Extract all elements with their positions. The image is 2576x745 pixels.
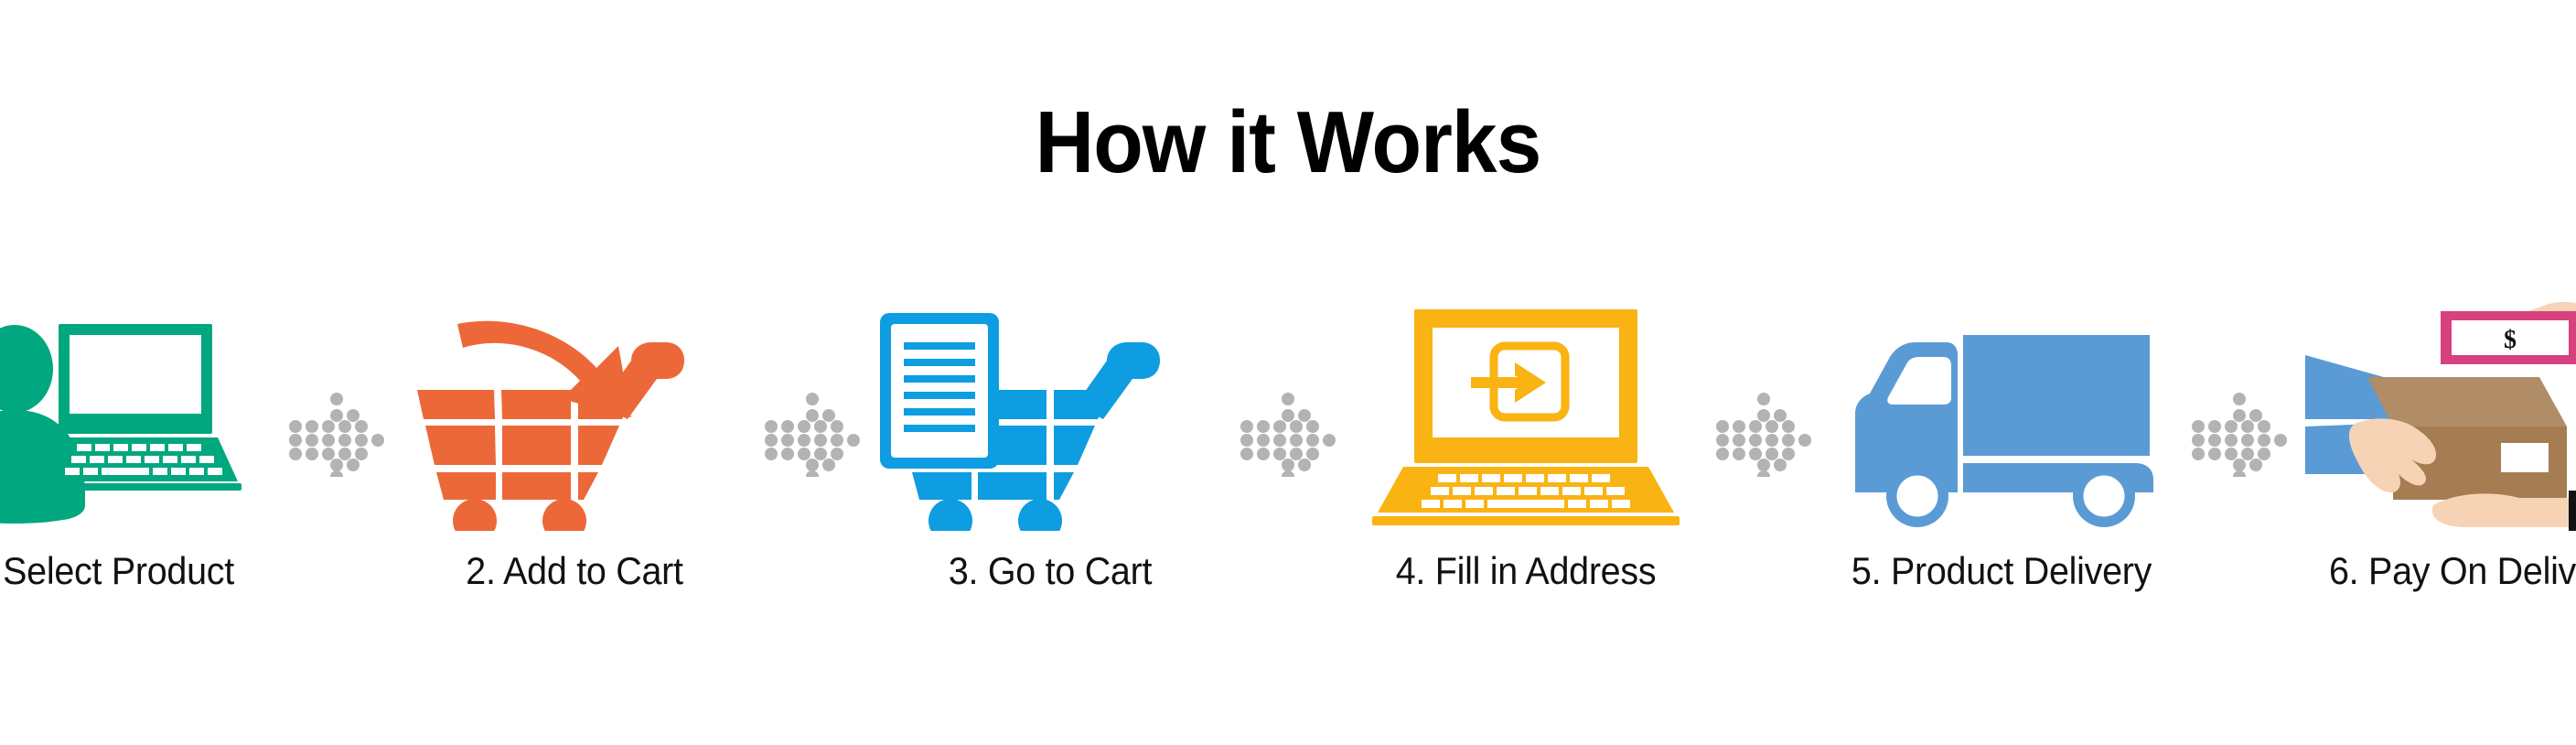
step-2-label: 2. Add to Cart (402, 549, 746, 593)
person-laptop-icon (0, 302, 282, 531)
step-5-product-delivery[interactable]: 5. Product Delivery (1819, 302, 2184, 632)
money-symbol: $ (2504, 326, 2517, 354)
dotted-arrow-right-icon (1233, 302, 1343, 632)
dotted-arrow-right-icon (1709, 302, 1819, 632)
step-6-pay-on-delivery[interactable]: $ (2294, 302, 2576, 632)
how-it-works-infographic: How it Works (0, 0, 2576, 745)
document-cart-icon (867, 302, 1233, 531)
step-4-fill-in-address[interactable]: 4. Fill in Address (1343, 302, 1709, 632)
laptop-login-icon (1343, 302, 1709, 531)
dotted-arrow-right-icon (282, 302, 392, 632)
page-title: How it Works (91, 99, 2486, 187)
step-3-go-to-cart[interactable]: 3. Go to Cart (867, 302, 1233, 632)
cart-arrow-icon (392, 302, 757, 531)
dotted-arrow-right-icon (757, 302, 867, 632)
step-5-label: 5. Product Delivery (1830, 549, 2173, 593)
delivery-truck-icon (1819, 302, 2184, 531)
step-3-label: 3. Go to Cart (878, 549, 1222, 593)
shipping-label (2501, 443, 2549, 472)
step-6-label: 6. Pay On Delivery (2305, 549, 2576, 593)
money-note: $ (2441, 311, 2576, 364)
step-2-add-to-cart[interactable]: 2. Add to Cart (392, 302, 757, 632)
dotted-arrow-right-icon (2184, 302, 2294, 632)
step-4-label: 4. Fill in Address (1354, 549, 1698, 593)
hands-box-money-icon: $ (2294, 302, 2576, 531)
step-1-label: 1. Select Product (0, 549, 271, 593)
steps-row: 1. Select Product (0, 302, 2576, 632)
step-1-select-product[interactable]: 1. Select Product (0, 302, 282, 632)
